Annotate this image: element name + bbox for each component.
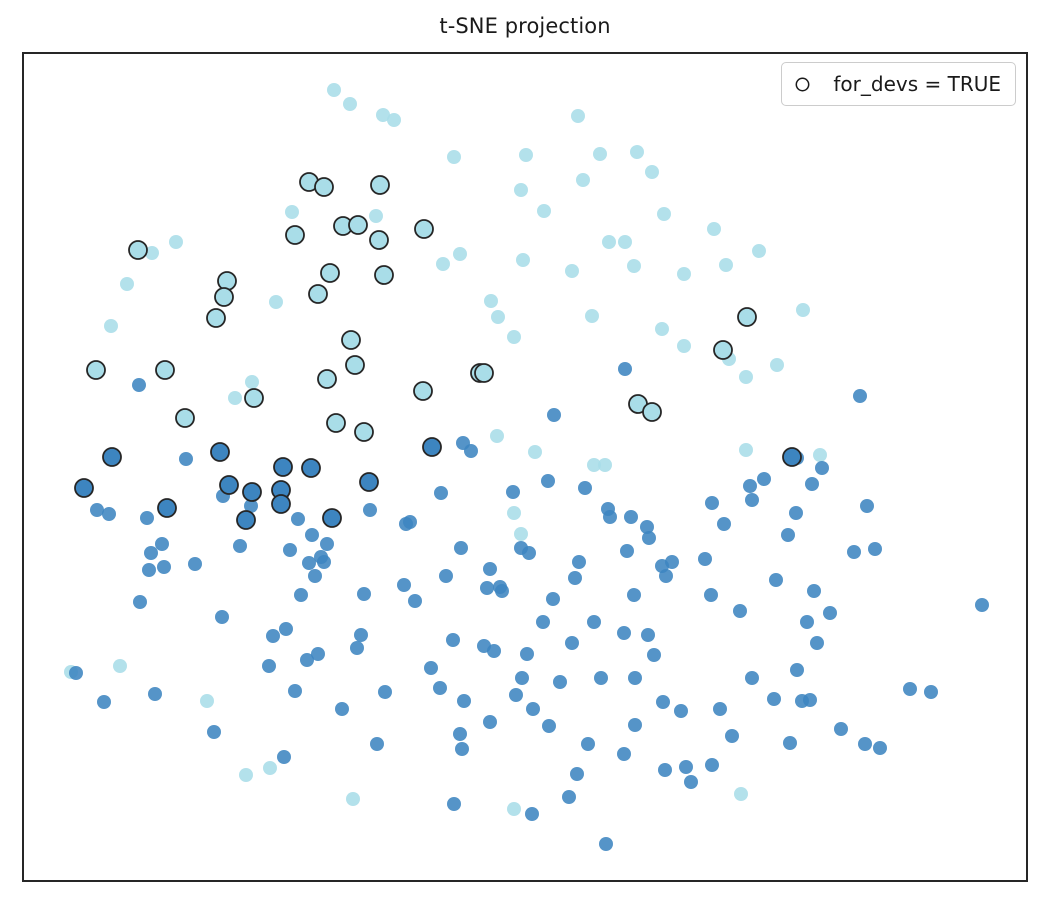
scatter-point[interactable] (507, 506, 521, 520)
scatter-point[interactable] (781, 528, 795, 542)
scatter-point[interactable] (570, 767, 584, 781)
scatter-point[interactable] (378, 685, 392, 699)
scatter-point[interactable] (283, 543, 297, 557)
circle-outline-marker-icon (794, 76, 811, 93)
scatter-point[interactable] (704, 588, 718, 602)
legend[interactable]: for_devs = TRUE (781, 62, 1016, 106)
scatter-point[interactable] (509, 688, 523, 702)
scatter-point-highlighted[interactable] (158, 499, 176, 517)
scatter-point[interactable] (142, 563, 156, 577)
scatter-point[interactable] (603, 510, 617, 524)
scatter-point[interactable] (157, 560, 171, 574)
page-title: t-SNE projection (0, 14, 1050, 38)
scatter-point[interactable] (434, 486, 448, 500)
scatter-point[interactable] (350, 641, 364, 655)
scatter-point[interactable] (277, 750, 291, 764)
scatter-point[interactable] (311, 647, 325, 661)
scatter-plot-svg (24, 54, 1028, 882)
scatter-point[interactable] (847, 545, 861, 559)
scatter-point[interactable] (514, 183, 528, 197)
scatter-point-highlighted[interactable] (318, 370, 336, 388)
scatter-point[interactable] (453, 247, 467, 261)
scatter-point[interactable] (397, 578, 411, 592)
scatter-point-highlighted[interactable] (129, 241, 147, 259)
scatter-point[interactable] (245, 375, 259, 389)
scatter-point-highlighted[interactable] (315, 178, 333, 196)
scatter-point[interactable] (719, 258, 733, 272)
scatter-point[interactable] (335, 702, 349, 716)
scatter-point[interactable] (228, 391, 242, 405)
scatter-point[interactable] (572, 555, 586, 569)
scatter-point[interactable] (546, 592, 560, 606)
scatter-point-highlighted[interactable] (87, 361, 105, 379)
scatter-point[interactable] (343, 97, 357, 111)
plot-area: for_devs = TRUE (22, 52, 1028, 882)
scatter-point[interactable] (483, 715, 497, 729)
scatter-point[interactable] (739, 370, 753, 384)
scatter-point[interactable] (491, 310, 505, 324)
scatter-point[interactable] (408, 594, 422, 608)
scatter-point[interactable] (745, 671, 759, 685)
scatter-point[interactable] (169, 235, 183, 249)
scatter-point[interactable] (102, 507, 116, 521)
scatter-point[interactable] (200, 694, 214, 708)
scatter-point[interactable] (853, 389, 867, 403)
scatter-point[interactable] (568, 571, 582, 585)
scatter-point[interactable] (455, 742, 469, 756)
scatter-point[interactable] (628, 671, 642, 685)
scatter-point[interactable] (642, 531, 656, 545)
scatter-point[interactable] (783, 736, 797, 750)
scatter-point[interactable] (677, 267, 691, 281)
scatter-point-highlighted[interactable] (207, 309, 225, 327)
scatter-point[interactable] (599, 837, 613, 851)
scatter-point[interactable] (515, 671, 529, 685)
scatter-point-highlighted[interactable] (211, 443, 229, 461)
scatter-point-highlighted[interactable] (274, 458, 292, 476)
scatter-point[interactable] (868, 542, 882, 556)
scatter-point[interactable] (433, 681, 447, 695)
scatter-point[interactable] (487, 644, 501, 658)
scatter-point[interactable] (506, 485, 520, 499)
scatter-point[interactable] (585, 309, 599, 323)
scatter-point[interactable] (447, 150, 461, 164)
scatter-point[interactable] (655, 322, 669, 336)
scatter-point[interactable] (733, 604, 747, 618)
scatter-point-highlighted[interactable] (103, 448, 121, 466)
scatter-point[interactable] (302, 556, 316, 570)
scatter-point[interactable] (520, 647, 534, 661)
scatter-point-highlighted[interactable] (414, 382, 432, 400)
scatter-point-highlighted[interactable] (370, 231, 388, 249)
scatter-point-highlighted[interactable] (272, 495, 290, 513)
scatter-point[interactable] (769, 573, 783, 587)
scatter-point[interactable] (745, 493, 759, 507)
scatter-point[interactable] (734, 787, 748, 801)
scatter-point[interactable] (815, 461, 829, 475)
scatter-point[interactable] (803, 693, 817, 707)
scatter-point[interactable] (453, 727, 467, 741)
scatter-point[interactable] (562, 790, 576, 804)
scatter-point[interactable] (369, 209, 383, 223)
scatter-point[interactable] (924, 685, 938, 699)
scatter-point[interactable] (717, 517, 731, 531)
scatter-point[interactable] (291, 512, 305, 526)
scatter-point[interactable] (752, 244, 766, 258)
scatter-point[interactable] (507, 330, 521, 344)
scatter-point[interactable] (628, 718, 642, 732)
scatter-point[interactable] (456, 436, 470, 450)
scatter-point[interactable] (698, 552, 712, 566)
scatter-point[interactable] (269, 295, 283, 309)
scatter-point[interactable] (490, 429, 504, 443)
scatter-point-highlighted[interactable] (423, 438, 441, 456)
scatter-point-highlighted[interactable] (156, 361, 174, 379)
scatter-point[interactable] (713, 702, 727, 716)
scatter-point-highlighted[interactable] (375, 266, 393, 284)
scatter-point[interactable] (519, 148, 533, 162)
scatter-point[interactable] (807, 584, 821, 598)
scatter-point[interactable] (144, 546, 158, 560)
scatter-point[interactable] (133, 595, 147, 609)
scatter-point[interactable] (903, 682, 917, 696)
scatter-point-highlighted[interactable] (302, 459, 320, 477)
scatter-point-highlighted[interactable] (309, 285, 327, 303)
scatter-point[interactable] (858, 737, 872, 751)
scatter-point-highlighted[interactable] (349, 216, 367, 234)
scatter-point-highlighted[interactable] (738, 308, 756, 326)
scatter-point[interactable] (860, 499, 874, 513)
scatter-point[interactable] (279, 622, 293, 636)
scatter-point[interactable] (790, 663, 804, 677)
scatter-point-highlighted[interactable] (243, 483, 261, 501)
scatter-point[interactable] (346, 792, 360, 806)
scatter-point[interactable] (305, 528, 319, 542)
scatter-point[interactable] (288, 684, 302, 698)
scatter-point[interactable] (480, 581, 494, 595)
scatter-point-highlighted[interactable] (346, 356, 364, 374)
scatter-point[interactable] (657, 207, 671, 221)
scatter-point[interactable] (263, 761, 277, 775)
scatter-point[interactable] (834, 722, 848, 736)
legend-label-for-devs: for_devs = TRUE (833, 72, 1001, 96)
scatter-point[interactable] (725, 729, 739, 743)
scatter-point[interactable] (594, 671, 608, 685)
scatter-point[interactable] (294, 588, 308, 602)
scatter-point[interactable] (602, 235, 616, 249)
scatter-point[interactable] (308, 569, 322, 583)
scatter-point[interactable] (447, 797, 461, 811)
scatter-point[interactable] (975, 598, 989, 612)
scatter-point-highlighted[interactable] (176, 409, 194, 427)
scatter-point[interactable] (617, 626, 631, 640)
scatter-point[interactable] (522, 546, 536, 560)
scatter-point[interactable] (436, 257, 450, 271)
scatter-point[interactable] (813, 448, 827, 462)
scatter-point-highlighted[interactable] (643, 403, 661, 421)
scatter-point-highlighted[interactable] (75, 479, 93, 497)
scatter-point[interactable] (266, 629, 280, 643)
scatter-point[interactable] (587, 615, 601, 629)
scatter-series-0 (64, 83, 989, 851)
scatter-point-highlighted[interactable] (245, 389, 263, 407)
scatter-point-highlighted[interactable] (783, 448, 801, 466)
scatter-point[interactable] (537, 204, 551, 218)
scatter-point[interactable] (399, 517, 413, 531)
scatter-point[interactable] (630, 145, 644, 159)
scatter-point[interactable] (493, 580, 507, 594)
scatter-point[interactable] (120, 277, 134, 291)
scatter-point[interactable] (97, 695, 111, 709)
scatter-point[interactable] (565, 264, 579, 278)
scatter-point[interactable] (576, 173, 590, 187)
scatter-point-highlighted[interactable] (323, 509, 341, 527)
scatter-point[interactable] (641, 628, 655, 642)
scatter-point[interactable] (674, 704, 688, 718)
scatter-point[interactable] (767, 692, 781, 706)
scatter-point[interactable] (483, 562, 497, 576)
scatter-point[interactable] (507, 802, 521, 816)
scatter-point[interactable] (547, 408, 561, 422)
scatter-point[interactable] (148, 687, 162, 701)
scatter-point[interactable] (617, 747, 631, 761)
scatter-point[interactable] (155, 537, 169, 551)
scatter-point[interactable] (457, 694, 471, 708)
scatter-point[interactable] (565, 636, 579, 650)
scatter-point[interactable] (618, 362, 632, 376)
scatter-point[interactable] (810, 636, 824, 650)
scatter-point[interactable] (484, 294, 498, 308)
scatter-point[interactable] (656, 695, 670, 709)
scatter-point[interactable] (578, 481, 592, 495)
scatter-point[interactable] (514, 527, 528, 541)
scatter-point[interactable] (370, 737, 384, 751)
scatter-point-highlighted[interactable] (371, 176, 389, 194)
scatter-point[interactable] (516, 253, 530, 267)
scatter-point[interactable] (207, 725, 221, 739)
scatter-point[interactable] (593, 147, 607, 161)
scatter-point-highlighted[interactable] (714, 341, 732, 359)
scatter-point[interactable] (677, 339, 691, 353)
scatter-point-highlighted[interactable] (237, 511, 255, 529)
scatter-point[interactable] (233, 539, 247, 553)
scatter-point[interactable] (104, 319, 118, 333)
scatter-point[interactable] (239, 768, 253, 782)
scatter-point[interactable] (618, 235, 632, 249)
scatter-point[interactable] (679, 760, 693, 774)
scatter-point[interactable] (627, 259, 641, 273)
scatter-point[interactable] (598, 458, 612, 472)
scatter-point[interactable] (553, 675, 567, 689)
scatter-point[interactable] (262, 659, 276, 673)
scatter-point[interactable] (800, 615, 814, 629)
scatter-point[interactable] (285, 205, 299, 219)
scatter-point[interactable] (805, 477, 819, 491)
tsne-figure: t-SNE projection for_devs = TRUE (0, 0, 1050, 900)
scatter-point-highlighted[interactable] (327, 414, 345, 432)
scatter-point[interactable] (542, 719, 556, 733)
scatter-point[interactable] (446, 633, 460, 647)
scatter-point[interactable] (757, 472, 771, 486)
scatter-point-highlighted[interactable] (415, 220, 433, 238)
scatter-point[interactable] (113, 659, 127, 673)
scatter-point[interactable] (620, 544, 634, 558)
scatter-point[interactable] (645, 165, 659, 179)
scatter-point-highlighted[interactable] (215, 288, 233, 306)
scatter-point-highlighted[interactable] (218, 272, 236, 290)
scatter-point[interactable] (796, 303, 810, 317)
scatter-point[interactable] (873, 741, 887, 755)
scatter-points-layer (24, 54, 1026, 880)
scatter-point[interactable] (684, 775, 698, 789)
scatter-point[interactable] (387, 113, 401, 127)
scatter-point-highlighted[interactable] (342, 331, 360, 349)
scatter-point-highlighted[interactable] (360, 473, 378, 491)
scatter-point[interactable] (770, 358, 784, 372)
scatter-point[interactable] (705, 758, 719, 772)
scatter-point[interactable] (327, 83, 341, 97)
scatter-point[interactable] (439, 569, 453, 583)
scatter-point[interactable] (707, 222, 721, 236)
scatter-point-highlighted[interactable] (475, 364, 493, 382)
scatter-point[interactable] (424, 661, 438, 675)
scatter-point[interactable] (90, 503, 104, 517)
scatter-point[interactable] (215, 610, 229, 624)
scatter-point[interactable] (454, 541, 468, 555)
scatter-point[interactable] (536, 615, 550, 629)
scatter-point[interactable] (655, 559, 669, 573)
scatter-point[interactable] (823, 606, 837, 620)
scatter-point-highlighted[interactable] (286, 226, 304, 244)
scatter-point-highlighted[interactable] (321, 264, 339, 282)
scatter-point[interactable] (658, 763, 672, 777)
scatter-point[interactable] (363, 503, 377, 517)
scatter-point[interactable] (357, 587, 371, 601)
scatter-point[interactable] (132, 378, 146, 392)
scatter-point[interactable] (541, 474, 555, 488)
scatter-point[interactable] (705, 496, 719, 510)
scatter-point[interactable] (571, 109, 585, 123)
scatter-point[interactable] (179, 452, 193, 466)
scatter-point[interactable] (627, 588, 641, 602)
scatter-series-1 (75, 173, 801, 529)
scatter-point[interactable] (526, 702, 540, 716)
scatter-point[interactable] (314, 550, 328, 564)
scatter-point[interactable] (647, 648, 661, 662)
scatter-point[interactable] (188, 557, 202, 571)
scatter-point[interactable] (581, 737, 595, 751)
scatter-point[interactable] (528, 445, 542, 459)
scatter-point-highlighted[interactable] (220, 476, 238, 494)
scatter-point[interactable] (624, 510, 638, 524)
scatter-point[interactable] (354, 628, 368, 642)
scatter-point[interactable] (320, 537, 334, 551)
scatter-point[interactable] (739, 443, 753, 457)
scatter-point[interactable] (789, 506, 803, 520)
scatter-point[interactable] (140, 511, 154, 525)
scatter-point-highlighted[interactable] (355, 423, 373, 441)
scatter-point[interactable] (743, 479, 757, 493)
scatter-point[interactable] (69, 666, 83, 680)
scatter-point[interactable] (525, 807, 539, 821)
